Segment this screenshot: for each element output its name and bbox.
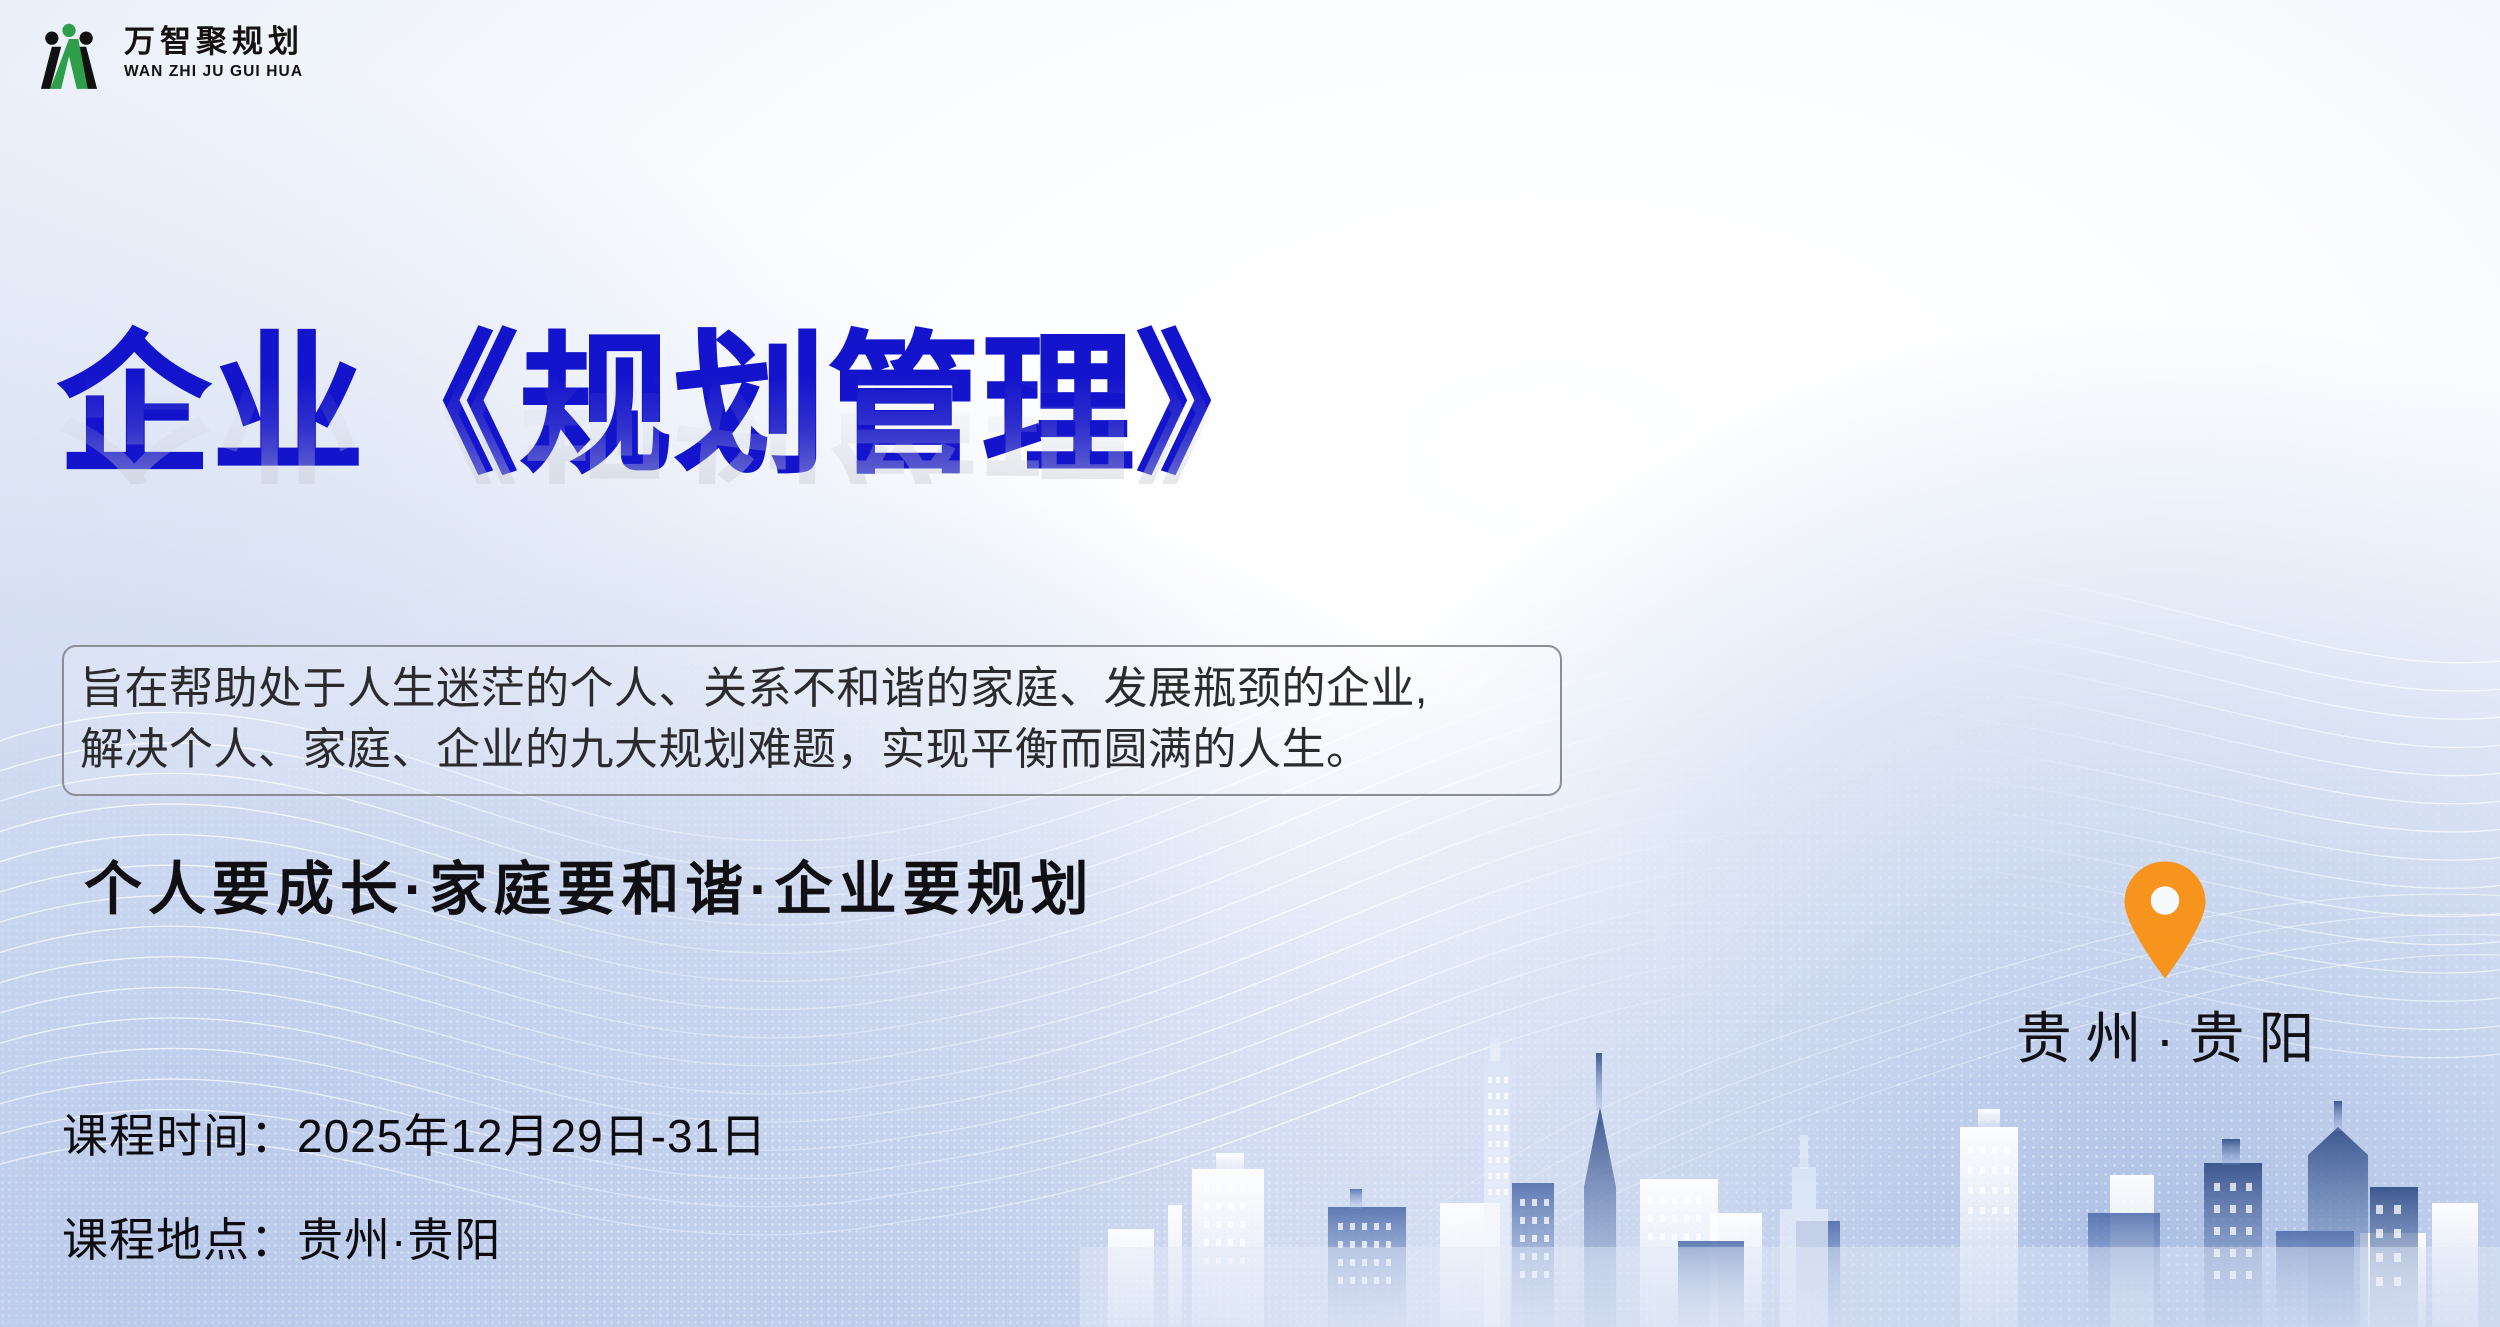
three-people-logo-icon <box>30 14 108 92</box>
description-line-1: 旨在帮助处于人生迷茫的个人、关系不和谐的家庭、发展瓶颈的企业, <box>80 659 1544 720</box>
map-pin-icon <box>2120 860 2210 980</box>
tagline: 个人要成长·家庭要和谐·企业要规划 <box>84 842 1095 926</box>
course-time: 课程时间：2025年12月29日-31日 <box>62 1100 767 1166</box>
hero-title-block: 企业《规划管理》 企业《规划管理》 <box>58 330 1658 636</box>
course-place: 课程地点：贵州·贵阳 <box>62 1204 767 1270</box>
page-title-reflection: 企业《规划管理》 <box>58 332 1658 484</box>
location-label: 贵州·贵阳 <box>1955 994 2375 1075</box>
poster-canvas: 万智聚规划 WAN ZHI JU GUI HUA 企业《规划管理》 企业《规划管… <box>0 0 2500 1327</box>
brand-name-cn: 万智聚规划 <box>124 26 304 57</box>
description-box: 旨在帮助处于人生迷茫的个人、关系不和谐的家庭、发展瓶颈的企业, 解决个人、家庭、… <box>62 645 1562 796</box>
brand-logo-text: 万智聚规划 WAN ZHI JU GUI HUA <box>124 26 304 80</box>
brand-name-en: WAN ZHI JU GUI HUA <box>124 64 304 80</box>
description-line-2: 解决个人、家庭、企业的九大规划难题，实现平衡而圆满的人生。 <box>80 720 1544 781</box>
course-info: 课程时间：2025年12月29日-31日 课程地点：贵州·贵阳 <box>62 1100 767 1270</box>
brand-logo[interactable]: 万智聚规划 WAN ZHI JU GUI HUA <box>30 14 304 92</box>
location-block: 贵州·贵阳 <box>1955 860 2375 1075</box>
